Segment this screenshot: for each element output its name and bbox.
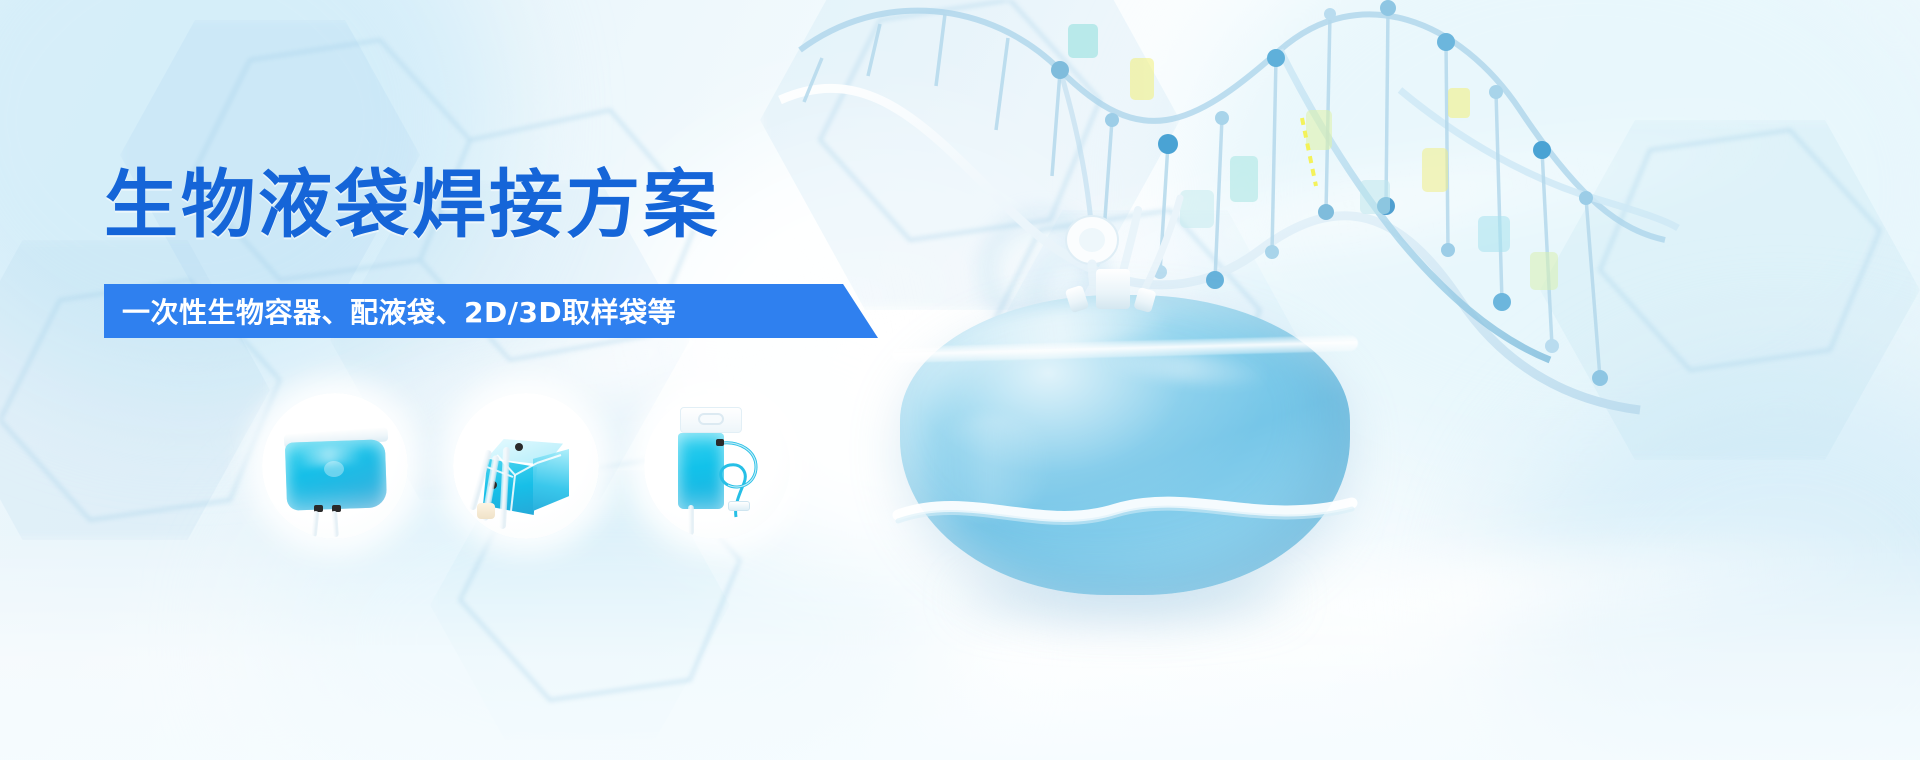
bag-3d-connector [477,503,495,519]
bag-3d-creases [453,393,599,539]
bioreactor-port-top [1096,269,1130,309]
sampling-bag-outlet-tube [688,505,694,535]
headline-container: 生物液袋焊接方案 [104,168,720,242]
bag-3d-clamp-top [515,443,523,451]
bag-2d-label-dot [324,461,344,477]
sampling-bag-clamp-1 [716,439,724,446]
bioreactor-highlight-3 [930,415,1050,515]
product-circle-3d-bag[interactable] [453,393,599,539]
subtitle-text: 一次性生物容器、配液袋、2D/3D取样袋等 [122,291,676,331]
subtitle-bar: 一次性生物容器、配液袋、2D/3D取样袋等 [104,284,786,338]
sampling-bag-connector [728,501,750,511]
sampling-bag-tubing [644,393,790,539]
page-title: 生物液袋焊接方案 [104,168,720,242]
bioreactor-bag [900,295,1350,595]
bag-2d-tube-2 [331,511,339,537]
promo-banner: 生物液袋焊接方案 一次性生物容器、配液袋、2D/3D取样袋等 [0,0,1920,760]
bag-2d-tube-1 [311,511,320,537]
product-circle-2d-bag[interactable] [262,393,408,539]
product-circle-sampling-bag[interactable] [644,393,790,539]
